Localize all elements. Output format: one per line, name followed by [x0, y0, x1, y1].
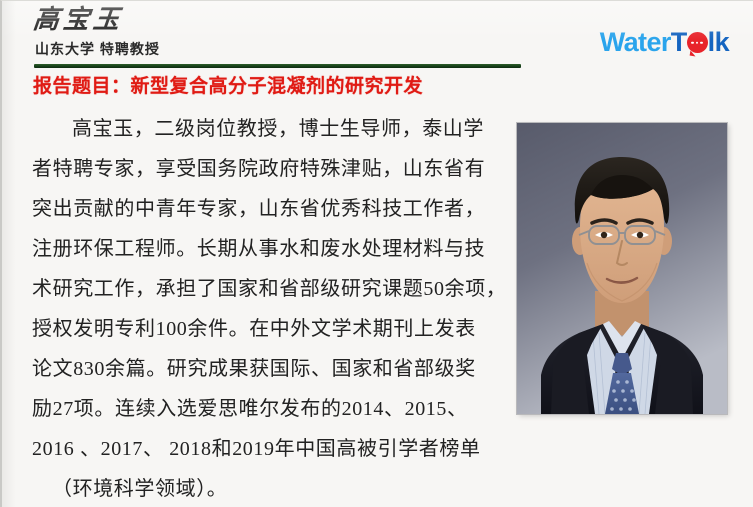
bio-line: 授权发明专利100余件。在中外文学术期刊上发表 [32, 309, 497, 349]
header-divider [34, 64, 521, 68]
logo-text-t: T [671, 29, 687, 56]
bio-line: 术研究工作，承担了国家和省部级研究课题50余项， [32, 269, 497, 309]
speaker-affiliation: 山东大学 特聘教授 [35, 39, 160, 59]
bio-line: 高宝玉，二级岗位教授，博士生导师，泰山学 [32, 109, 497, 149]
logo-text-water: Water [600, 29, 671, 56]
bio-line: 突出贡献的中青年专家，山东省优秀科技工作者， [32, 189, 497, 229]
talk-title: 报告题目：新型复合高分子混凝剂的研究开发 [33, 71, 423, 98]
speaker-portrait [517, 123, 727, 414]
bio-line: 注册环保工程师。长期从事水和废水处理材料与技 [32, 229, 497, 269]
presentation-slide: 高宝玉 山东大学 特聘教授 Water T lk 报告题目：新型复合高分子混凝剂… [0, 0, 753, 507]
logo-text-lk: lk [708, 29, 729, 56]
watertalk-logo: Water T lk [600, 29, 729, 56]
bio-line: 励27项。连续入选爱思唯尔发布的2014、2015、 [32, 389, 497, 429]
portrait-illustration [517, 123, 727, 414]
speaker-name-calligraphy: 高宝玉 [31, 6, 124, 35]
speech-bubble-tail [689, 51, 696, 57]
bio-line: 论文830余篇。研究成果获国际、国家和省部级奖 [32, 349, 497, 389]
speech-bubble-dots [687, 41, 708, 44]
speech-bubble-icon [687, 32, 708, 53]
speaker-bio: 高宝玉，二级岗位教授，博士生导师，泰山学 者特聘专家，享受国务院政府特殊津贴，山… [32, 109, 497, 507]
bio-line: 者特聘专家，享受国务院政府特殊津贴，山东省有 [32, 149, 497, 189]
bio-line: （环境科学领域）。 [32, 469, 497, 507]
bio-line: 2016 、2017、 2018和2019年中国高被引学者榜单 [32, 429, 497, 469]
